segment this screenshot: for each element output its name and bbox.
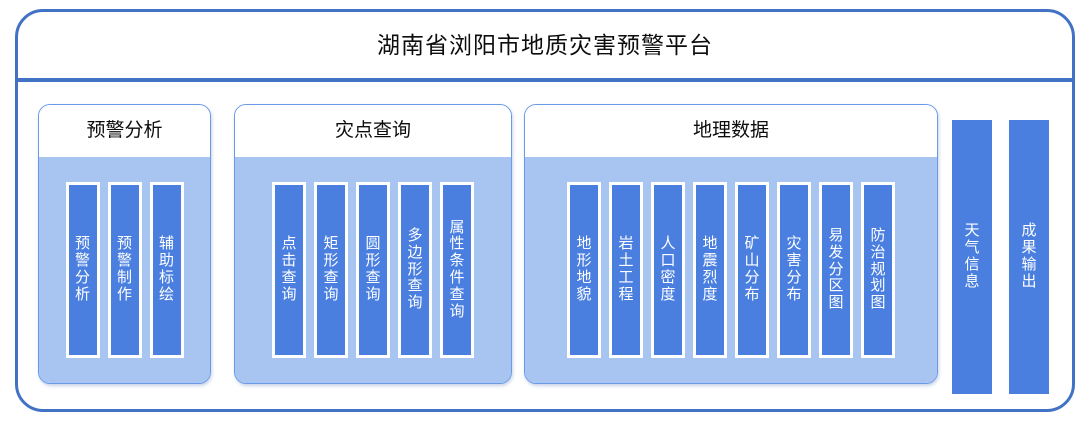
panel-body: 地形地貌 岩土工程 人口密度 地震烈度 矿山分布 灾害分布 (525, 157, 937, 383)
tile-label: 预警分析 (75, 236, 90, 303)
tile-button[interactable]: 地震烈度 (693, 182, 727, 358)
module-panel-geographic-data[interactable]: 地理数据 地形地貌 岩土工程 人口密度 地震烈度 (524, 104, 938, 384)
panel-title: 预警分析 (39, 105, 210, 157)
tile-button[interactable]: 地形地貌 (567, 182, 601, 358)
side-bar-result-output[interactable]: 成果输出 (1009, 120, 1049, 394)
panel-title: 地理数据 (525, 105, 937, 157)
tile-strip: 预警分析 预警制作 辅助标绘 (62, 182, 188, 358)
tile-button[interactable]: 防治规划图 (861, 182, 895, 358)
panel-body: 预警分析 预警制作 辅助标绘 (39, 157, 210, 383)
tile-button[interactable]: 人口密度 (651, 182, 685, 358)
tile-label: 多边形查询 (408, 228, 423, 312)
tile-label: 属性条件查询 (450, 220, 465, 321)
tile-label: 岩土工程 (619, 236, 634, 303)
tile-label: 易发分区图 (829, 228, 844, 312)
tile-strip: 点击查询 矩形查询 圆形查询 多边形查询 属性条件查询 (268, 182, 478, 358)
tile-label: 防治规划图 (871, 228, 886, 312)
side-bar-weather-info[interactable]: 天气信息 (952, 120, 992, 394)
tile-strip: 地形地貌 岩土工程 人口密度 地震烈度 矿山分布 灾害分布 (563, 182, 899, 358)
side-bar-label: 天气信息 (965, 223, 980, 290)
tile-button[interactable]: 辅助标绘 (150, 182, 184, 358)
tile-button[interactable]: 属性条件查询 (440, 182, 474, 358)
module-row: 预警分析 预警分析 预警制作 辅助标绘 灾点查询 (18, 82, 1072, 409)
tile-button[interactable]: 预警制作 (108, 182, 142, 358)
tile-label: 辅助标绘 (159, 236, 174, 303)
panel-body: 点击查询 矩形查询 圆形查询 多边形查询 属性条件查询 (235, 157, 511, 383)
tile-label: 预警制作 (117, 236, 132, 303)
tile-label: 灾害分布 (787, 236, 802, 303)
page-title: 湖南省浏阳市地质灾害预警平台 (18, 12, 1072, 78)
tile-button[interactable]: 矩形查询 (314, 182, 348, 358)
module-panel-warning-analysis[interactable]: 预警分析 预警分析 预警制作 辅助标绘 (38, 104, 211, 384)
tile-button[interactable]: 易发分区图 (819, 182, 853, 358)
tile-button[interactable]: 预警分析 (66, 182, 100, 358)
tile-button[interactable]: 圆形查询 (356, 182, 390, 358)
tile-label: 地震烈度 (703, 236, 718, 303)
tile-label: 点击查询 (282, 236, 297, 303)
tile-label: 矿山分布 (745, 236, 760, 303)
tile-button[interactable]: 岩土工程 (609, 182, 643, 358)
platform-frame: 湖南省浏阳市地质灾害预警平台 预警分析 预警分析 预警制作 辅助标绘 (15, 9, 1075, 412)
tile-label: 矩形查询 (324, 236, 339, 303)
tile-button[interactable]: 多边形查询 (398, 182, 432, 358)
tile-label: 人口密度 (661, 236, 676, 303)
tile-button[interactable]: 点击查询 (272, 182, 306, 358)
module-panel-disaster-point-query[interactable]: 灾点查询 点击查询 矩形查询 圆形查询 多边形查询 (234, 104, 512, 384)
tile-label: 圆形查询 (366, 236, 381, 303)
tile-button[interactable]: 矿山分布 (735, 182, 769, 358)
tile-button[interactable]: 灾害分布 (777, 182, 811, 358)
panel-title: 灾点查询 (235, 105, 511, 157)
side-bar-label: 成果输出 (1022, 223, 1037, 290)
tile-label: 地形地貌 (577, 236, 592, 303)
